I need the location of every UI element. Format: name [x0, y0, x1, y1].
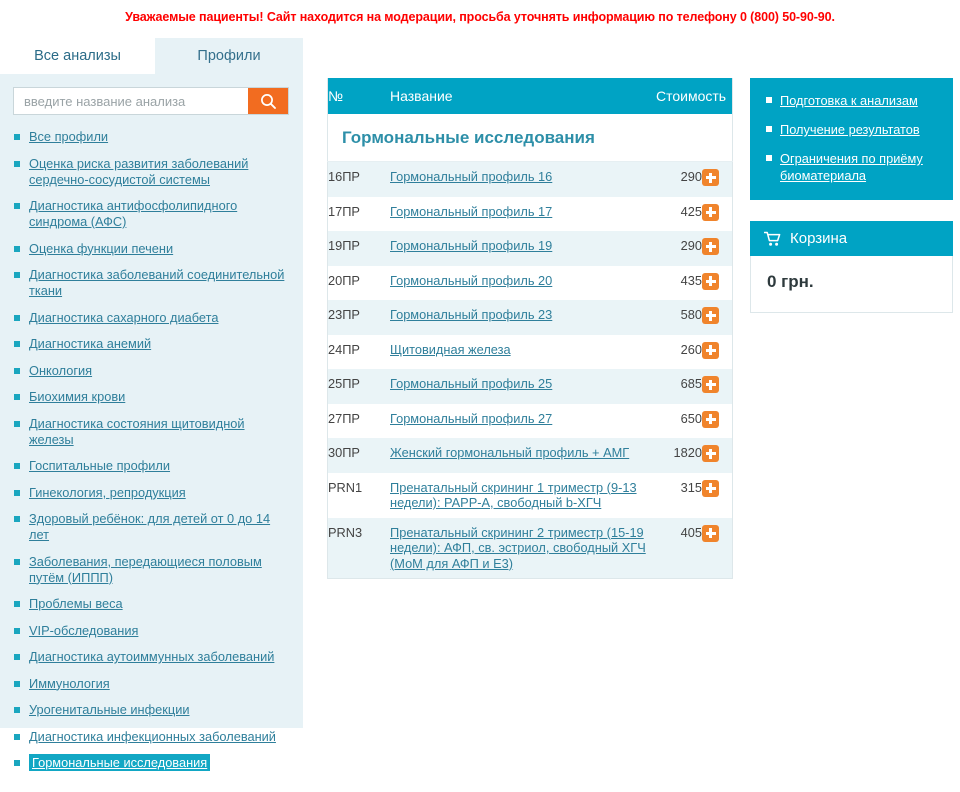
row-name-link[interactable]: Пренатальный скрининг 2 триместр (15-19 …	[390, 525, 646, 571]
bullet-icon	[14, 134, 20, 140]
category-link[interactable]: Гормональные исследования	[29, 754, 210, 771]
column-header-name: Название	[390, 78, 656, 114]
add-to-cart-icon[interactable]	[702, 169, 719, 186]
row-price: 435	[656, 266, 702, 301]
category-item[interactable]: Диагностика антифосфолипидного синдрома …	[14, 198, 291, 230]
row-name-link[interactable]: Гормональный профиль 25	[390, 376, 552, 391]
bullet-icon	[766, 155, 772, 161]
row-price: 425	[656, 197, 702, 232]
cart-header: Корзина	[750, 221, 953, 256]
row-price: 315	[656, 473, 702, 518]
row-name-link[interactable]: Гормональный профиль 17	[390, 204, 552, 219]
category-link[interactable]: Проблемы веса	[29, 596, 123, 611]
tab-all-analyses[interactable]: Все анализы	[0, 38, 155, 74]
category-item[interactable]: Диагностика заболеваний соединительной т…	[14, 267, 291, 299]
table-row: 25ПР Гормональный профиль 25 685	[328, 369, 733, 404]
add-to-cart-icon[interactable]	[702, 238, 719, 255]
bullet-icon	[14, 654, 20, 660]
table-row: 24ПР Щитовидная железа 260	[328, 335, 733, 370]
bullet-icon	[14, 394, 20, 400]
bullet-icon	[766, 126, 772, 132]
row-add-cell	[702, 197, 733, 232]
category-link[interactable]: Оценка риска развития заболеваний сердеч…	[29, 156, 248, 187]
category-item-active[interactable]: Гормональные исследования	[14, 755, 291, 771]
category-item[interactable]: Диагностика аутоиммунных заболеваний	[14, 649, 291, 665]
row-code: 19ПР	[328, 231, 391, 266]
row-name: Гормональный профиль 16	[390, 162, 656, 197]
row-name: Гормональный профиль 17	[390, 197, 656, 232]
search-box	[13, 87, 289, 115]
table-row: 19ПР Гормональный профиль 19 290	[328, 231, 733, 266]
row-price: 685	[656, 369, 702, 404]
table-group-row: Гормональные исследования	[328, 114, 733, 162]
row-code: 30ПР	[328, 438, 391, 473]
category-link[interactable]: Диагностика инфекционных заболеваний	[29, 729, 276, 744]
group-title: Гормональные исследования	[328, 114, 733, 162]
category-item[interactable]: Диагностика инфекционных заболеваний	[14, 729, 291, 745]
category-link[interactable]: VIP-обследования	[29, 623, 138, 638]
table-header: № Название Стоимость	[328, 78, 733, 114]
row-code: 27ПР	[328, 404, 391, 439]
row-name-link[interactable]: Пренатальный скрининг 1 триместр (9-13 н…	[390, 480, 637, 511]
bullet-icon	[14, 490, 20, 496]
row-name-link[interactable]: Гормональный профиль 20	[390, 273, 552, 288]
category-item[interactable]: VIP-обследования	[14, 623, 291, 639]
category-link[interactable]: Оценка функции печени	[29, 241, 173, 256]
category-link[interactable]: Диагностика антифосфолипидного синдрома …	[29, 198, 237, 229]
category-link[interactable]: Здоровый ребёнок: для детей от 0 до 14 л…	[29, 511, 270, 542]
row-name-link[interactable]: Гормональный профиль 23	[390, 307, 552, 322]
row-price: 290	[656, 162, 702, 197]
search-input[interactable]	[14, 88, 248, 114]
row-code: PRN3	[328, 518, 391, 579]
row-add-cell	[702, 369, 733, 404]
add-to-cart-icon[interactable]	[702, 342, 719, 359]
site-notice-text: Уважаемые пациенты! Сайт находится на мо…	[125, 10, 835, 24]
category-link[interactable]: Диагностика состояния щитовидной железы	[29, 416, 245, 447]
tab-all-analyses-label: Все анализы	[34, 48, 121, 64]
cart-total: 0 грн.	[767, 272, 938, 292]
category-link[interactable]: Диагностика анемий	[29, 336, 151, 351]
row-name: Гормональный профиль 23	[390, 300, 656, 335]
category-link[interactable]: Гинекология, репродукция	[29, 485, 186, 500]
row-price: 405	[656, 518, 702, 579]
search-icon	[260, 93, 277, 110]
right-sidebar: Подготовка к анализам Получение результа…	[750, 78, 953, 313]
sidebar-tabs: Все анализы Профили	[0, 38, 303, 74]
bullet-icon	[14, 516, 20, 522]
row-name: Пренатальный скрининг 1 триместр (9-13 н…	[390, 473, 656, 518]
row-name-link[interactable]: Гормональный профиль 16	[390, 169, 552, 184]
row-code: 24ПР	[328, 335, 391, 370]
bullet-icon	[14, 760, 20, 766]
bullet-icon	[14, 628, 20, 634]
category-link[interactable]: Все профили	[29, 129, 108, 144]
row-add-cell	[702, 404, 733, 439]
category-item[interactable]: Иммунология	[14, 676, 291, 692]
table-row: 30ПР Женский гормональный профиль + АМГ …	[328, 438, 733, 473]
category-link[interactable]: Заболевания, передающиеся половым путём …	[29, 554, 262, 585]
category-link[interactable]: Диагностика аутоиммунных заболеваний	[29, 649, 274, 664]
search-button[interactable]	[248, 88, 288, 114]
row-add-cell	[702, 231, 733, 266]
row-name-link[interactable]: Гормональный профиль 27	[390, 411, 552, 426]
category-item[interactable]: Гинекология, репродукция	[14, 485, 291, 501]
shopping-cart-icon	[764, 231, 782, 247]
info-links-list: Подготовка к анализам Получение результа…	[766, 92, 939, 184]
row-name: Щитовидная железа	[390, 335, 656, 370]
cart-title: Корзина	[790, 230, 847, 247]
add-to-cart-icon[interactable]	[702, 376, 719, 393]
row-code: 23ПР	[328, 300, 391, 335]
bullet-icon	[14, 734, 20, 740]
add-to-cart-icon[interactable]	[702, 411, 719, 428]
add-to-cart-icon[interactable]	[702, 525, 719, 542]
info-link[interactable]: Ограничения по приёму биоматериала	[780, 151, 923, 183]
row-name: Гормональный профиль 25	[390, 369, 656, 404]
bullet-icon	[14, 161, 20, 167]
add-to-cart-icon[interactable]	[702, 307, 719, 324]
table-row: PRN3 Пренатальный скрининг 2 триместр (1…	[328, 518, 733, 579]
row-add-cell	[702, 335, 733, 370]
bullet-icon	[14, 463, 20, 469]
row-add-cell	[702, 300, 733, 335]
table-row: 16ПР Гормональный профиль 16 290	[328, 162, 733, 197]
row-price: 650	[656, 404, 702, 439]
analyses-table: № Название Стоимость Гормональные исслед…	[327, 78, 733, 579]
row-code: 20ПР	[328, 266, 391, 301]
row-code: 17ПР	[328, 197, 391, 232]
info-link[interactable]: Подготовка к анализам	[780, 93, 918, 108]
row-name: Женский гормональный профиль + АМГ	[390, 438, 656, 473]
category-link[interactable]: Биохимия крови	[29, 389, 125, 404]
category-link[interactable]: Госпитальные профили	[29, 458, 170, 473]
table-body: Гормональные исследования 16ПР Гормональ…	[328, 114, 733, 579]
bullet-icon	[14, 601, 20, 607]
bullet-icon	[14, 707, 20, 713]
tab-profiles-label: Профили	[197, 48, 260, 64]
row-add-cell	[702, 266, 733, 301]
bullet-icon	[14, 315, 20, 321]
category-link[interactable]: Урогенитальные инфекции	[29, 702, 190, 717]
category-item[interactable]: Оценка риска развития заболеваний сердеч…	[14, 156, 291, 188]
row-price: 260	[656, 335, 702, 370]
page-content: Все анализы Профили Все	[0, 34, 960, 728]
row-name: Гормональный профиль 19	[390, 231, 656, 266]
category-item[interactable]: Диагностика состояния щитовидной железы	[14, 416, 291, 448]
bullet-icon	[14, 272, 20, 278]
column-header-number: №	[328, 78, 391, 114]
category-item[interactable]: Здоровый ребёнок: для детей от 0 до 14 л…	[14, 511, 291, 543]
row-price: 580	[656, 300, 702, 335]
category-item[interactable]: Диагностика анемий	[14, 336, 291, 352]
table-row: 27ПР Гормональный профиль 27 650	[328, 404, 733, 439]
row-name-link[interactable]: Гормональный профиль 19	[390, 238, 552, 253]
row-name-link[interactable]: Щитовидная железа	[390, 342, 511, 357]
row-name-link[interactable]: Женский гормональный профиль + АМГ	[390, 445, 629, 460]
analyses-table-panel: № Название Стоимость Гормональные исслед…	[327, 78, 733, 579]
row-add-cell	[702, 518, 733, 579]
cart-panel: Корзина 0 грн.	[750, 221, 953, 313]
category-link[interactable]: Диагностика заболеваний соединительной т…	[29, 267, 284, 298]
info-link-item[interactable]: Получение результатов	[766, 121, 939, 138]
category-link[interactable]: Онкология	[29, 363, 92, 378]
bullet-icon	[766, 97, 772, 103]
bullet-icon	[14, 681, 20, 687]
category-item[interactable]: Проблемы веса	[14, 596, 291, 612]
bullet-icon	[14, 246, 20, 252]
add-to-cart-icon[interactable]	[702, 204, 719, 221]
table-row: 20ПР Гормональный профиль 20 435	[328, 266, 733, 301]
category-item[interactable]: Диагностика сахарного диабета	[14, 310, 291, 326]
row-add-cell	[702, 473, 733, 518]
bullet-icon	[14, 203, 20, 209]
info-link[interactable]: Получение результатов	[780, 122, 920, 137]
row-code: PRN1	[328, 473, 391, 518]
cart-body: 0 грн.	[751, 256, 952, 312]
bullet-icon	[14, 368, 20, 374]
table-row: PRN1 Пренатальный скрининг 1 триместр (9…	[328, 473, 733, 518]
tab-profiles[interactable]: Профили	[155, 38, 303, 74]
left-sidebar: Все анализы Профили Все	[0, 38, 303, 728]
row-add-cell	[702, 438, 733, 473]
table-row: 23ПР Гормональный профиль 23 580	[328, 300, 733, 335]
row-code: 25ПР	[328, 369, 391, 404]
bullet-icon	[14, 559, 20, 565]
category-item[interactable]: Биохимия крови	[14, 389, 291, 405]
category-link[interactable]: Иммунология	[29, 676, 110, 691]
row-name: Гормональный профиль 27	[390, 404, 656, 439]
row-name: Пренатальный скрининг 2 триместр (15-19 …	[390, 518, 656, 579]
category-item[interactable]: Госпитальные профили	[14, 458, 291, 474]
info-links-panel: Подготовка к анализам Получение результа…	[750, 78, 953, 200]
category-item[interactable]: Заболевания, передающиеся половым путём …	[14, 554, 291, 586]
add-to-cart-icon[interactable]	[702, 445, 719, 462]
row-name: Гормональный профиль 20	[390, 266, 656, 301]
row-price: 1820	[656, 438, 702, 473]
category-item[interactable]: Урогенитальные инфекции	[14, 702, 291, 718]
category-list: Все профили Оценка риска развития заболе…	[0, 129, 303, 792]
category-link[interactable]: Диагностика сахарного диабета	[29, 310, 218, 325]
add-to-cart-icon[interactable]	[702, 480, 719, 497]
search-area	[0, 74, 303, 115]
bullet-icon	[14, 341, 20, 347]
table-row: 17ПР Гормональный профиль 17 425	[328, 197, 733, 232]
add-to-cart-icon[interactable]	[702, 273, 719, 290]
category-item[interactable]: Онкология	[14, 363, 291, 379]
category-item[interactable]: Оценка функции печени	[14, 241, 291, 257]
category-item[interactable]: Все профили	[14, 129, 291, 145]
row-add-cell	[702, 162, 733, 197]
site-notice-bar: Уважаемые пациенты! Сайт находится на мо…	[0, 0, 960, 34]
bullet-icon	[14, 421, 20, 427]
info-link-item[interactable]: Подготовка к анализам	[766, 92, 939, 109]
info-link-item[interactable]: Ограничения по приёму биоматериала	[766, 150, 939, 184]
row-code: 16ПР	[328, 162, 391, 197]
row-price: 290	[656, 231, 702, 266]
column-header-price: Стоимость	[656, 78, 733, 114]
